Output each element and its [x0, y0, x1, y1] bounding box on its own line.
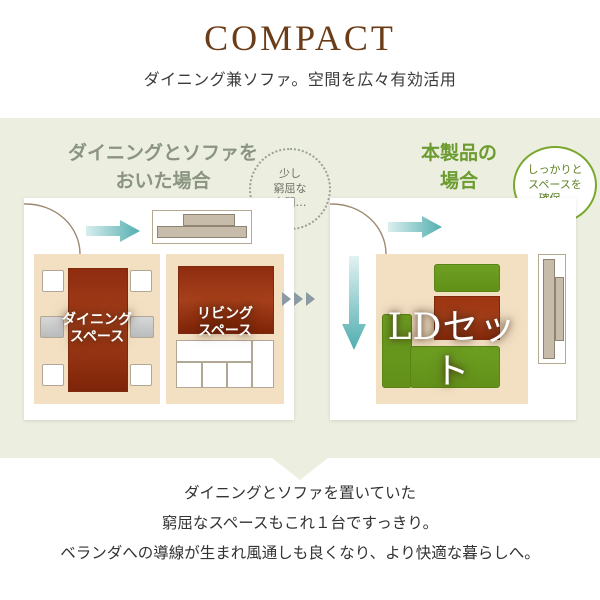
ld-table	[434, 296, 500, 340]
triangle-1	[282, 292, 291, 306]
band-notch-triangle	[272, 458, 328, 480]
triple-triangle-icon	[282, 292, 315, 306]
footer-line-3: ベランダへの導線が生まれ風通しも良くなり、より快適な暮らしへ。	[0, 538, 600, 568]
door-arc-icon	[330, 202, 392, 256]
right-arrow-icon	[388, 216, 442, 238]
dining-room-area: ダイニング スペース	[34, 254, 160, 404]
left-heading: ダイニングとソファを おいた場合	[58, 140, 268, 195]
ld-room-area: LDセット	[376, 254, 528, 404]
tv-stand-icon	[152, 210, 252, 244]
door-arc-icon	[24, 202, 86, 256]
right-heading: 本製品の 場合	[400, 140, 518, 195]
floorplan-after: LDセット	[330, 198, 576, 420]
right-arrow-icon	[86, 220, 140, 242]
dining-chair	[130, 270, 152, 292]
left-bubble-line-2: 窮屈な	[274, 182, 307, 197]
living-rug	[178, 266, 274, 334]
dining-chair	[130, 364, 152, 386]
dining-chair	[130, 316, 154, 338]
right-bubble-line-2: スペースを	[528, 178, 582, 193]
side-cabinet-icon	[538, 254, 566, 364]
page-title: COMPACT	[0, 20, 600, 56]
ld-sofa-main	[410, 346, 500, 388]
dining-chair	[42, 270, 64, 292]
ld-bench	[434, 264, 500, 292]
right-heading-line-1: 本製品の	[400, 140, 518, 168]
left-heading-line-1: ダイニングとソファを	[58, 140, 268, 168]
triangle-3	[306, 292, 315, 306]
down-arrow-icon	[342, 256, 366, 350]
left-bubble-line-1: 少し	[279, 167, 301, 182]
promo-graphic: COMPACT ダイニング兼ソファ。空間を広々有効活用 ダイニングとソファを お…	[0, 0, 600, 600]
footer-line-1: ダイニングとソファを置いていた	[0, 478, 600, 508]
right-heading-line-2: 場合	[400, 168, 518, 196]
dining-table	[68, 268, 128, 392]
left-heading-line-2: おいた場合	[58, 168, 268, 196]
dining-chair	[40, 316, 64, 338]
triangle-2	[294, 292, 303, 306]
living-room-area: リビング スペース	[166, 254, 284, 404]
header: COMPACT ダイニング兼ソファ。空間を広々有効活用	[0, 0, 600, 118]
sofa-l-shape	[176, 340, 274, 388]
dining-chair	[42, 364, 64, 386]
ld-sofa-side	[382, 314, 412, 388]
floorplan-before: ダイニング スペース リビング スペース	[24, 198, 294, 420]
footer-line-2: 窮屈なスペースもこれ１台ですっきり。	[0, 508, 600, 538]
page-subtitle: ダイニング兼ソファ。空間を広々有効活用	[0, 66, 600, 90]
right-bubble-line-1: しっかりと	[528, 163, 583, 178]
footer-description: ダイニングとソファを置いていた 窮屈なスペースもこれ１台ですっきり。 ベランダへ…	[0, 478, 600, 569]
